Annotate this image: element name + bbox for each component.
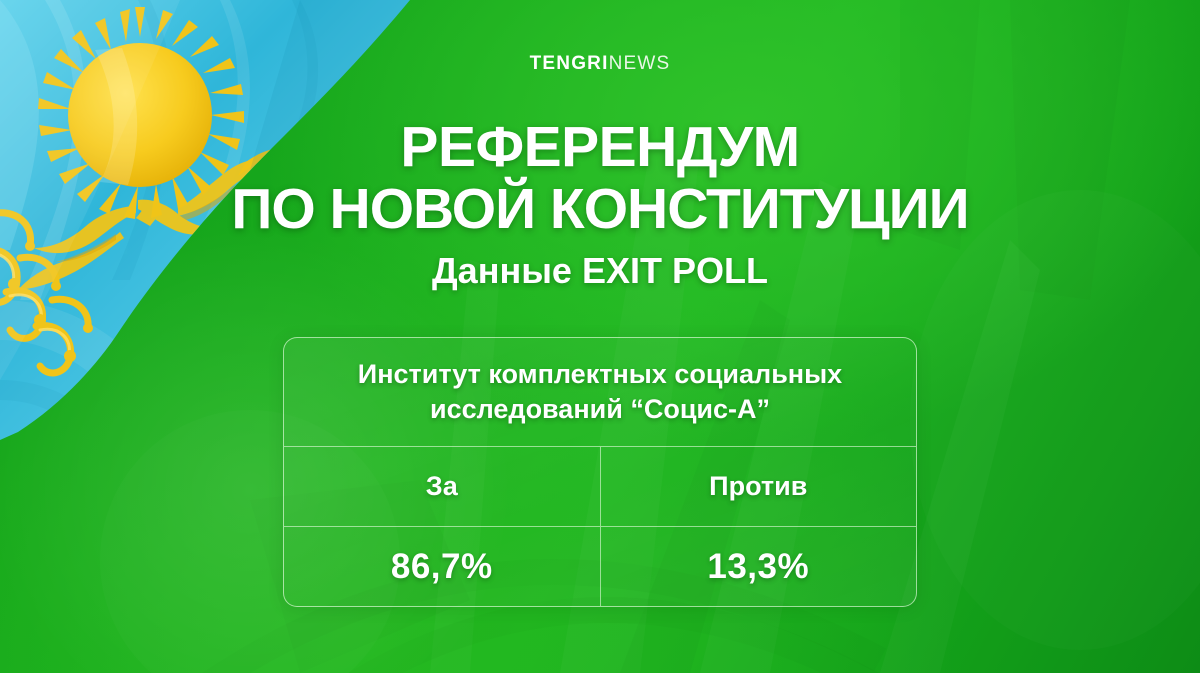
- value-against: 13,3%: [600, 527, 917, 607]
- logo-secondary-text: NEWS: [609, 53, 671, 74]
- table-header-row: За Против: [284, 446, 916, 526]
- value-for: 86,7%: [284, 527, 600, 607]
- results-card-title: Институт комплектных социальных исследов…: [284, 338, 916, 446]
- headline-line-1: РЕФЕРЕНДУМ: [0, 116, 1200, 178]
- table-value-row: 86,7% 13,3%: [284, 526, 916, 607]
- column-header-for: За: [284, 447, 600, 526]
- page-title: РЕФЕРЕНДУМ ПО НОВОЙ КОНСТИТУЦИИ: [0, 116, 1200, 240]
- results-card: Институт комплектных социальных исследов…: [283, 337, 917, 607]
- results-card-title-line-1: Институт комплектных социальных: [358, 357, 842, 392]
- page-subtitle: Данные EXIT POLL: [0, 250, 1200, 292]
- column-header-against: Против: [600, 447, 917, 526]
- logo-primary-text: TENGRI: [530, 53, 609, 74]
- headline-line-2: ПО НОВОЙ КОНСТИТУЦИИ: [0, 178, 1200, 240]
- poster-canvas: TENGRINEWS РЕФЕРЕНДУМ ПО НОВОЙ КОНСТИТУЦ…: [0, 0, 1200, 673]
- results-card-title-line-2: исследований “Социс-А”: [430, 392, 770, 427]
- tengrinews-logo: TENGRINEWS: [0, 53, 1200, 75]
